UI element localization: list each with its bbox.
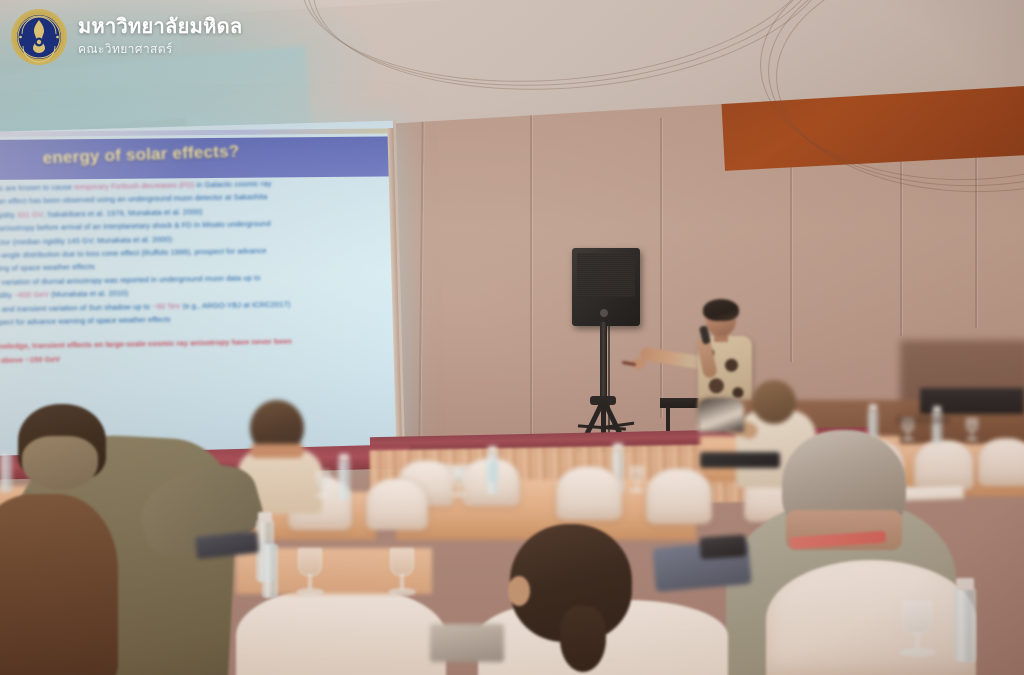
conference-room-photo: energy of solar effects? ar storms are k… (0, 0, 1024, 675)
wine-glass (298, 548, 322, 576)
water-bottle (954, 588, 976, 662)
pa-speaker-pole (600, 322, 607, 404)
bottle-cap (613, 443, 623, 451)
bottle-cap (488, 446, 497, 453)
watermark-line1: มหาวิทยาลัยมหิดล (78, 16, 242, 38)
table-shadow (896, 416, 950, 424)
watermark-line2: คณะวิทยาศาสตร์ (78, 40, 242, 59)
wine-glass (902, 600, 932, 634)
pa-speaker-cable (608, 320, 610, 440)
laptop (700, 452, 780, 468)
conference-chair (556, 466, 622, 520)
bottle-cap (869, 404, 877, 411)
bottle-cap (339, 454, 349, 461)
glass-foot (966, 437, 978, 441)
mahidol-university-seal-icon (10, 8, 68, 66)
conference-chair-foreground (766, 560, 976, 675)
wall-seam (530, 112, 532, 442)
glass-foot (902, 437, 914, 441)
pa-speaker-cabinet (572, 248, 640, 326)
wine-glass (390, 548, 414, 576)
presenter-hair (703, 299, 739, 321)
glass-foot (315, 493, 330, 498)
bottle-label (488, 462, 497, 482)
phone (699, 534, 746, 559)
pa-speaker-grill (577, 253, 635, 297)
glass-foot (629, 488, 644, 493)
glass-foot (388, 588, 416, 596)
ear (508, 576, 530, 606)
pa-speaker-logo (600, 309, 608, 317)
paper-stack (430, 624, 504, 662)
water-bottle (338, 460, 350, 500)
bottle-cap (258, 512, 272, 522)
water-bottle (0, 452, 12, 492)
bottle-cap (933, 406, 941, 413)
conference-chair (914, 440, 974, 490)
watermark: มหาวิทยาลัยมหิดล คณะวิทยาศาสตร์ (10, 8, 242, 66)
conference-chair-foreground (236, 586, 446, 675)
jacket-hood (22, 436, 98, 490)
conference-chair (366, 478, 428, 530)
wall-seam (660, 118, 662, 418)
glass-foot (296, 588, 324, 596)
glass-foot (899, 648, 935, 657)
conference-chair (978, 438, 1024, 486)
bottle-cap (956, 578, 974, 590)
water-bottle (262, 544, 278, 598)
ponytail (560, 606, 606, 672)
glass-foot (451, 492, 466, 497)
conference-chair (646, 468, 712, 524)
